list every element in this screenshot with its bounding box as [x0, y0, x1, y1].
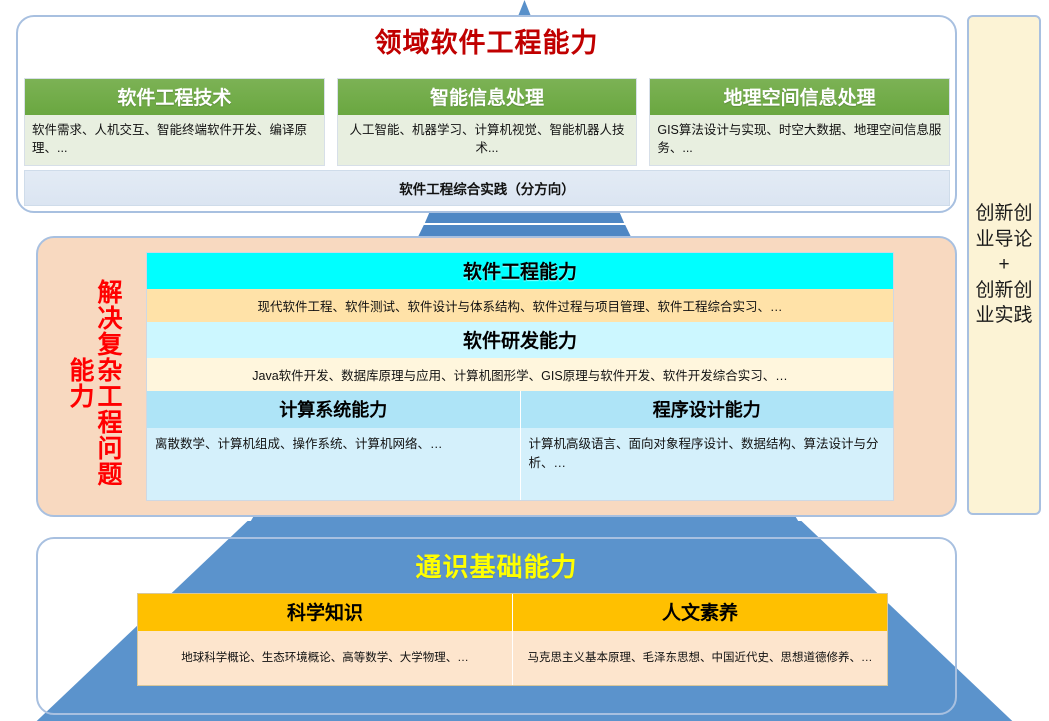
- capability-two-column-group: 计算系统能力 离散数学、计算机组成、操作系统、计算机网络、… 程序设计能力 计算…: [147, 391, 893, 500]
- column-body: 马克思主义基本原理、毛泽东思想、中国近代史、思想道德修养、…: [513, 631, 887, 685]
- vertical-capability-text: 解决复杂工程问题能力: [66, 270, 122, 496]
- column-computing-system-capability[interactable]: 计算系统能力 离散数学、计算机组成、操作系统、计算机网络、…: [147, 391, 520, 500]
- row-software-engineering-capability[interactable]: 软件工程能力: [147, 253, 893, 289]
- row-software-rd-capability[interactable]: 软件研发能力: [147, 322, 893, 358]
- card-body: 软件需求、人机交互、智能终端软件开发、编译原理、...: [25, 115, 324, 165]
- column-science-knowledge[interactable]: 科学知识 地球科学概论、生态环境概论、高等数学、大学物理、…: [138, 594, 512, 685]
- innovation-entrepreneurship-panel: [967, 15, 1041, 515]
- column-programming-capability[interactable]: 程序设计能力 计算机高级语言、面向对象程序设计、数据结构、算法设计与分析、…: [520, 391, 894, 500]
- row-software-rd-courses: Java软件开发、数据库原理与应用、计算机图形学、GIS原理与软件开发、软件开发…: [147, 358, 893, 391]
- vertical-capability-label: 解决复杂工程问题能力: [48, 268, 140, 498]
- column-body: 计算机高级语言、面向对象程序设计、数据结构、算法设计与分析、…: [521, 428, 894, 500]
- card-header: 智能信息处理: [338, 79, 637, 115]
- card-body: 人工智能、机器学习、计算机视觉、智能机器人技术...: [338, 115, 637, 165]
- diagram-canvas: 领域软件工程能力 软件工程技术 软件需求、人机交互、智能终端软件开发、编译原理、…: [0, 0, 1049, 721]
- row-software-engineering-courses: 现代软件工程、软件测试、软件设计与体系结构、软件过程与项目管理、软件工程综合实习…: [147, 289, 893, 322]
- column-header: 计算系统能力: [147, 391, 520, 428]
- capability-stack: 软件工程能力 现代软件工程、软件测试、软件设计与体系结构、软件过程与项目管理、软…: [146, 252, 894, 501]
- domain-card-list: 软件工程技术 软件需求、人机交互、智能终端软件开发、编译原理、... 智能信息处…: [24, 78, 950, 166]
- card-intelligent-information-processing[interactable]: 智能信息处理 人工智能、机器学习、计算机视觉、智能机器人技术...: [337, 78, 638, 166]
- card-body: GIS算法设计与实现、时空大数据、地理空间信息服务、...: [650, 115, 949, 165]
- page-title: 领域软件工程能力: [16, 21, 957, 60]
- comprehensive-practice-bar: 软件工程综合实践（分方向）: [24, 170, 950, 206]
- general-education-title: 通识基础能力: [36, 547, 957, 584]
- card-header: 地理空间信息处理: [650, 79, 949, 115]
- column-humanities-literacy[interactable]: 人文素养 马克思主义基本原理、毛泽东思想、中国近代史、思想道德修养、…: [512, 594, 887, 685]
- column-body: 地球科学概论、生态环境概论、高等数学、大学物理、…: [138, 631, 512, 685]
- card-software-engineering-tech[interactable]: 软件工程技术 软件需求、人机交互、智能终端软件开发、编译原理、...: [24, 78, 325, 166]
- column-body: 离散数学、计算机组成、操作系统、计算机网络、…: [147, 428, 520, 500]
- column-header: 人文素养: [513, 594, 887, 631]
- column-header: 程序设计能力: [521, 391, 894, 428]
- column-header: 科学知识: [138, 594, 512, 631]
- general-education-table: 科学知识 地球科学概论、生态环境概论、高等数学、大学物理、… 人文素养 马克思主…: [137, 593, 888, 686]
- card-geospatial-information-processing[interactable]: 地理空间信息处理 GIS算法设计与实现、时空大数据、地理空间信息服务、...: [649, 78, 950, 166]
- card-header: 软件工程技术: [25, 79, 324, 115]
